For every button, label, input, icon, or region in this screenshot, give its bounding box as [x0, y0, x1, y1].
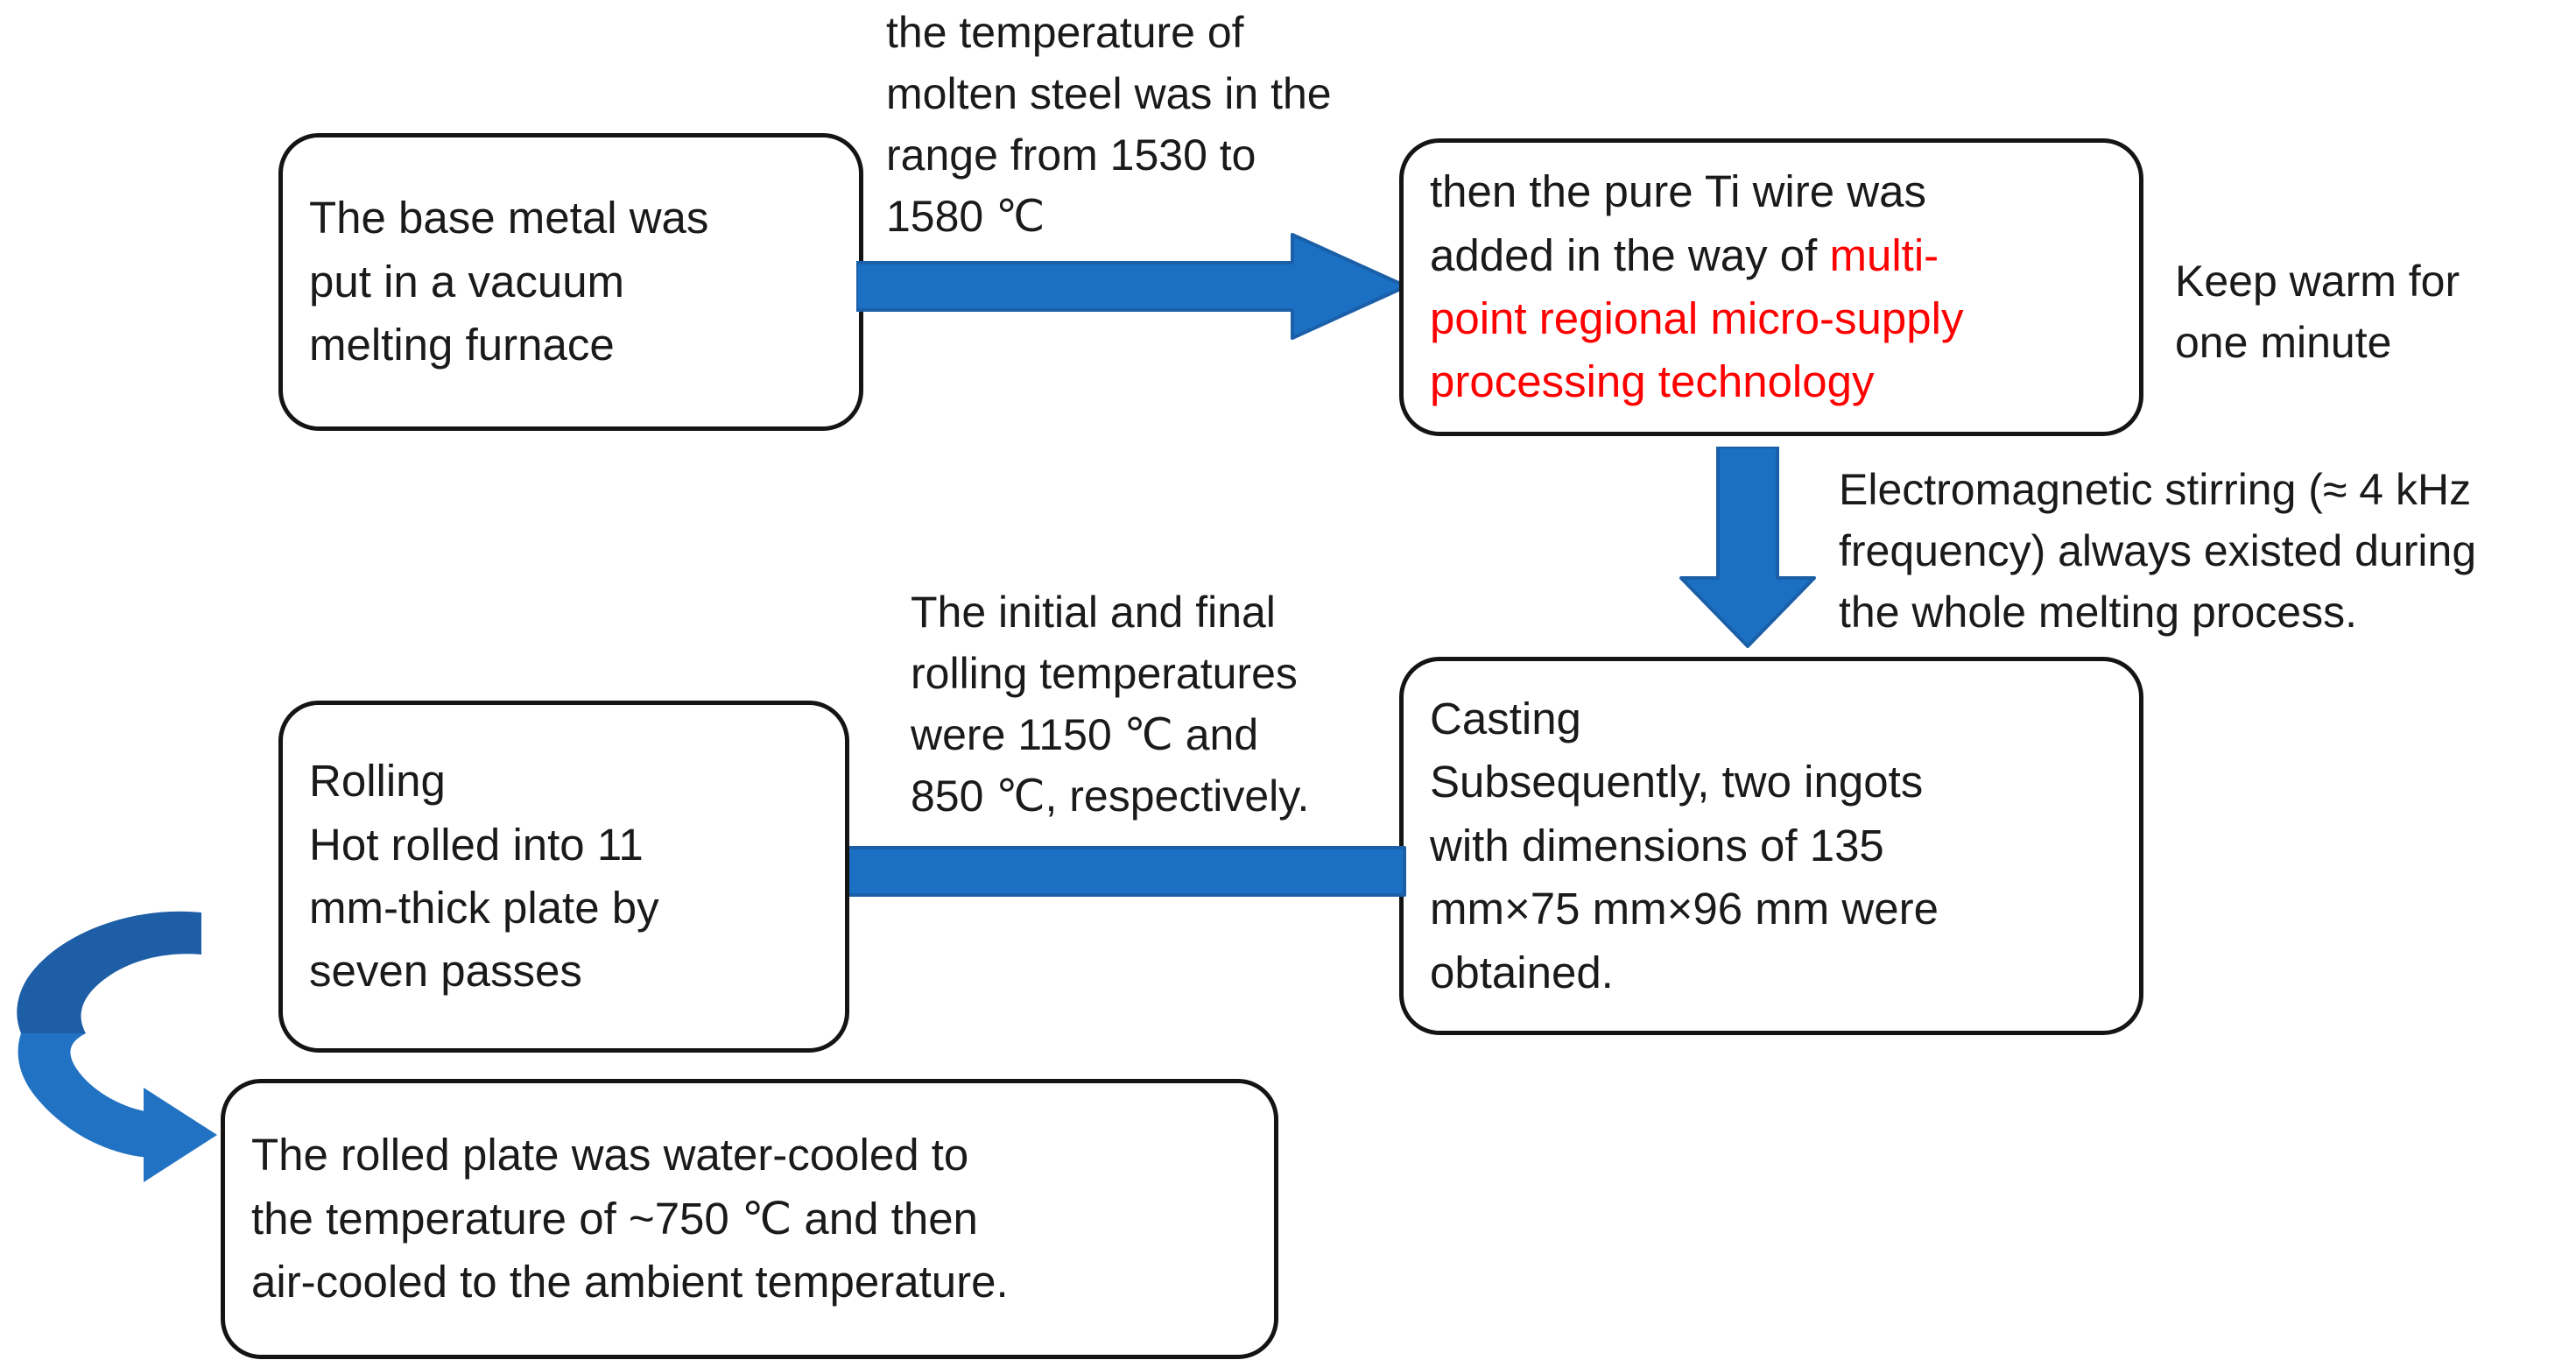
label-molten-steel-temperature: the temperature of molten steel was in t…	[886, 2, 1332, 247]
curved-arrow-lower-ribbon	[18, 1033, 151, 1158]
curved-arrow-upper-ribbon	[17, 912, 201, 1033]
label-keep-warm: Keep warm for one minute	[2175, 250, 2460, 373]
box-cooling-line-1: The rolled plate was water-cooled to	[251, 1124, 1251, 1187]
label-stirring-line-2: frequency) always existed during	[1839, 520, 2476, 581]
label-stirring-line-1: Electromagnetic stirring (≈ 4 kHz	[1839, 459, 2476, 520]
box-melting-line-3: melting furnace	[309, 314, 836, 377]
box-rolling-line-1: Hot rolled into 11	[309, 814, 822, 877]
u-turn-curved-arrow-icon	[4, 893, 249, 1182]
label-rolling-temp-line-3: were 1150 ℃ and	[911, 704, 1309, 765]
box-casting-line-4: obtained.	[1430, 941, 2116, 1004]
box-tiwire-line-2: added in the way of multi-	[1430, 224, 2116, 287]
process-box-ti-wire-addition[interactable]: then the pure Ti wire was added in the w…	[1399, 138, 2143, 436]
process-box-rolling[interactable]: Rolling Hot rolled into 11 mm-thick plat…	[278, 701, 849, 1053]
label-stirring-line-3: the whole melting process.	[1839, 581, 2476, 643]
box-casting-line-3: mm×75 mm×96 mm were	[1430, 877, 2116, 941]
label-rolling-temp-line-2: rolling temperatures	[911, 643, 1309, 704]
box-rolling-line-2: mm-thick plate by	[309, 877, 822, 940]
box-tiwire-line-2-black: added in the way of	[1430, 230, 1830, 280]
box-tiwire-line-4: processing technology	[1430, 350, 2116, 413]
label-rolling-temperatures: The initial and final rolling temperatur…	[911, 581, 1309, 827]
box-tiwire-line-3: point regional micro-supply	[1430, 287, 2116, 350]
label-keep-warm-line-1: Keep warm for	[2175, 250, 2460, 312]
process-box-melting-furnace[interactable]: The base metal was put in a vacuum melti…	[278, 133, 863, 431]
label-rolling-temp-line-1: The initial and final	[911, 581, 1309, 643]
box-tiwire-line-1: then the pure Ti wire was	[1430, 160, 2116, 223]
flowchart-canvas: The base metal was put in a vacuum melti…	[0, 0, 2576, 1367]
label-molten-temp-line-1: the temperature of	[886, 2, 1332, 63]
arrow-tiwire-to-casting	[1669, 447, 1826, 652]
box-melting-line-1: The base metal was	[309, 187, 836, 250]
label-molten-temp-line-3: range from 1530 to	[886, 124, 1332, 186]
process-box-casting[interactable]: Casting Subsequently, two ingots with di…	[1399, 657, 2143, 1035]
box-tiwire-line-2-red: multi-	[1830, 230, 1939, 280]
box-rolling-line-3: seven passes	[309, 940, 822, 1003]
process-box-cooling[interactable]: The rolled plate was water-cooled to the…	[221, 1079, 1278, 1359]
box-cooling-line-3: air-cooled to the ambient temperature.	[251, 1251, 1251, 1314]
curved-arrow-head	[144, 1088, 217, 1182]
right-arrow-icon	[856, 235, 1406, 338]
label-electromagnetic-stirring: Electromagnetic stirring (≈ 4 kHz freque…	[1839, 459, 2476, 643]
box-casting-title: Casting	[1430, 687, 2116, 750]
label-keep-warm-line-2: one minute	[2175, 312, 2460, 373]
arrow-melting-to-tiwire	[856, 229, 1408, 348]
down-arrow-icon	[1681, 447, 1814, 646]
box-melting-line-2: put in a vacuum	[309, 250, 836, 314]
box-casting-line-2: with dimensions of 135	[1430, 814, 2116, 877]
box-rolling-title: Rolling	[309, 750, 822, 813]
arrow-rolling-to-cooling	[4, 893, 249, 1187]
box-casting-line-1: Subsequently, two ingots	[1430, 750, 2116, 814]
label-molten-temp-line-2: molten steel was in the	[886, 63, 1332, 124]
box-cooling-line-2: the temperature of ~750 ℃ and then	[251, 1187, 1251, 1251]
